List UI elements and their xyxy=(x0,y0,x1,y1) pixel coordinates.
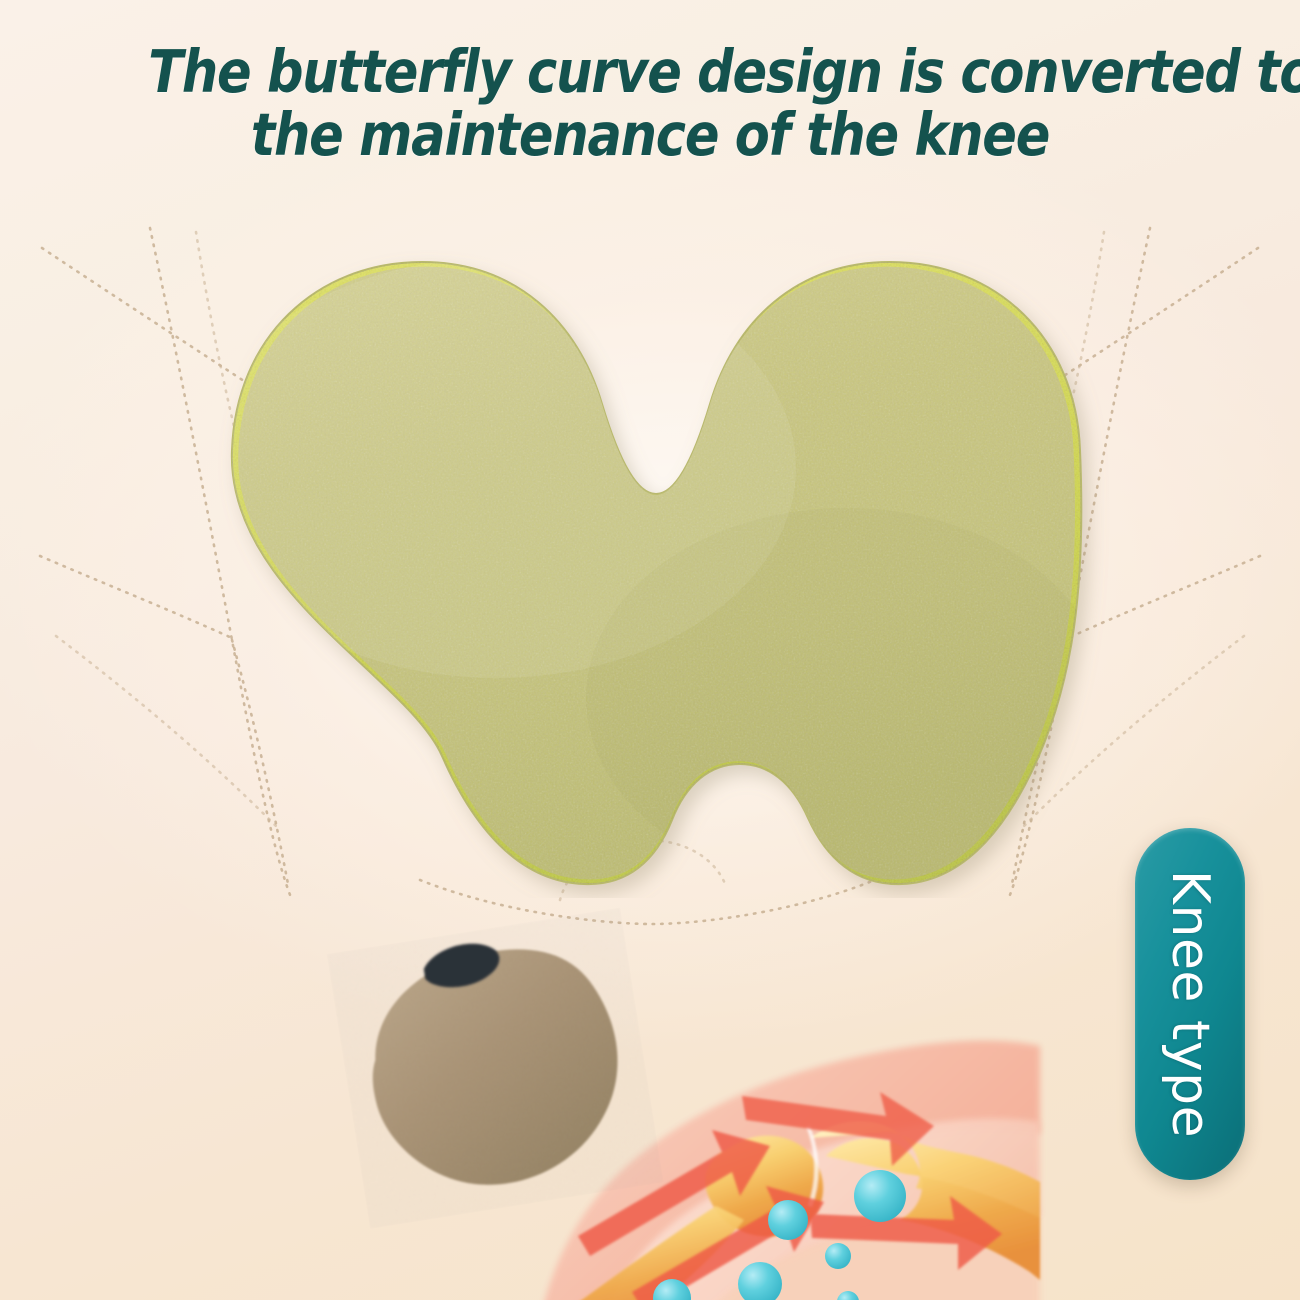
knee-type-badge-label: Knee type xyxy=(1160,870,1220,1138)
product-patch-shape xyxy=(196,218,1116,898)
particle-1 xyxy=(854,1170,906,1222)
knee-application-illustration xyxy=(340,920,1040,1300)
applied-patch xyxy=(353,923,635,1202)
knee-type-badge[interactable]: Knee type xyxy=(1135,828,1245,1180)
patch-texture xyxy=(196,258,1106,888)
particle-2 xyxy=(768,1200,808,1240)
headline-line-2: the maintenance of the knee xyxy=(148,103,1151,166)
applied-patch-body xyxy=(355,935,635,1202)
product-banner-canvas: The butterfly curve design is converted … xyxy=(0,0,1300,1300)
particle-3 xyxy=(825,1243,851,1269)
headline-block: The butterfly curve design is converted … xyxy=(0,40,1300,166)
product-patch xyxy=(196,218,1116,898)
headline-line-1: The butterfly curve design is converted … xyxy=(148,40,1151,103)
knee-cutaway-graphic xyxy=(340,920,1040,1300)
